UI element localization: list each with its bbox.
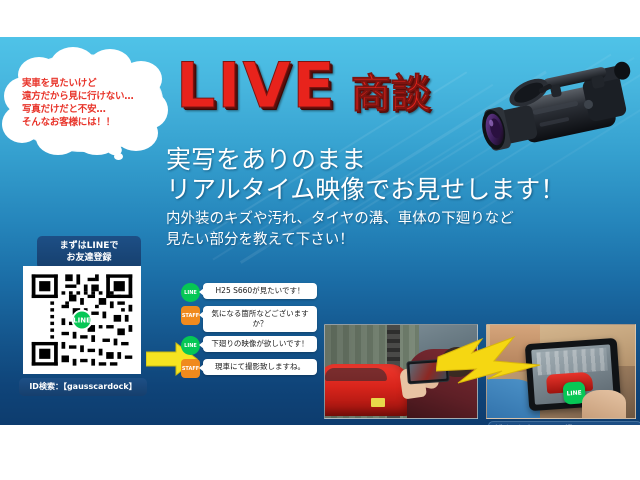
qr-header-line-2: お友達登録 bbox=[37, 252, 141, 264]
headline-shodan: 商談 bbox=[351, 74, 431, 114]
lightning-bolt-icon bbox=[436, 331, 542, 405]
car-windshield bbox=[325, 368, 387, 381]
chat-bubble-text: 下廻りの映像が欲しいです！ bbox=[203, 336, 317, 352]
qr-id-search: ID検索：【gausscardock】 bbox=[19, 378, 147, 396]
chat-message-1: LINE H25 S660が見たいです！ bbox=[181, 283, 317, 302]
subtitle-line-4: 見たい部分を教えて下さい！ bbox=[166, 230, 565, 251]
tablet-video-background bbox=[536, 348, 607, 376]
subtitle-block: 実写をありのまま リアルタイム映像でお見せします！ 内外装のキズや汚れ、タイヤの… bbox=[166, 145, 565, 251]
speech-bubble: 実車を見たいけど 遠方だから見に行けない… 写真だけだと不安… そんなお客様には… bbox=[10, 55, 162, 151]
subtitle-line-3: 内外装のキズや汚れ、タイヤの溝、車体の下廻りなど bbox=[166, 209, 565, 230]
chat-bubble-text: H25 S660が見たいです！ bbox=[203, 283, 317, 299]
headline-live: LIVE bbox=[176, 57, 337, 116]
qr-header: まずはLINEで お友達登録 bbox=[37, 236, 141, 269]
subtitle-line-2: リアルタイム映像でお見せします！ bbox=[166, 175, 565, 205]
chat-message-2: STAFF 気になる箇所などございますか？ bbox=[181, 306, 317, 332]
page-title: LIVE 商談 bbox=[176, 57, 431, 116]
chat-message-4: STAFF 現車にて撮影致しますね。 bbox=[181, 359, 317, 378]
staff-avatar-icon: STAFF bbox=[181, 359, 200, 378]
speech-bubble-text: 実車を見たいけど 遠方だから見に行けない… 写真だけだと不安… そんなお客様には… bbox=[22, 77, 154, 129]
red-car bbox=[324, 364, 411, 416]
caption-right: 映像を見ながら隅々までご覧頂けます。 又エンジン音なども動画にて配信致します。 bbox=[488, 421, 640, 425]
qr-line-badge: LINE bbox=[72, 310, 93, 331]
staff-avatar-icon: STAFF bbox=[181, 306, 200, 325]
subtitle-line-1: 実写をありのまま bbox=[166, 145, 565, 175]
customer-hand bbox=[582, 390, 626, 419]
qr-header-line-1: まずはLINEで bbox=[37, 240, 141, 252]
line-avatar-icon: LINE bbox=[181, 283, 200, 302]
chat-message-3: LINE 下廻りの映像が欲しいです！ bbox=[181, 336, 317, 355]
chat-bubble-text: 現車にて撮影致しますね。 bbox=[203, 359, 317, 375]
chat-bubble-text: 気になる箇所などございますか？ bbox=[203, 306, 317, 332]
live-shodan-banner: 実車を見たいけど 遠方だから見に行けない… 写真だけだと不安… そんなお客様には… bbox=[0, 37, 640, 425]
qr-code[interactable]: LINE bbox=[23, 266, 141, 374]
line-avatar-icon: LINE bbox=[181, 336, 200, 355]
car-plate bbox=[371, 398, 385, 407]
speech-bubble-tail-small bbox=[114, 153, 123, 160]
chat-thread: LINE H25 S660が見たいです！ STAFF 気になる箇所などございます… bbox=[181, 283, 317, 382]
qr-code-canvas: LINE bbox=[28, 271, 136, 369]
banner-frame: 実車を見たいけど 遠方だから見に行けない… 写真だけだと不安… そんなお客様には… bbox=[0, 0, 640, 480]
